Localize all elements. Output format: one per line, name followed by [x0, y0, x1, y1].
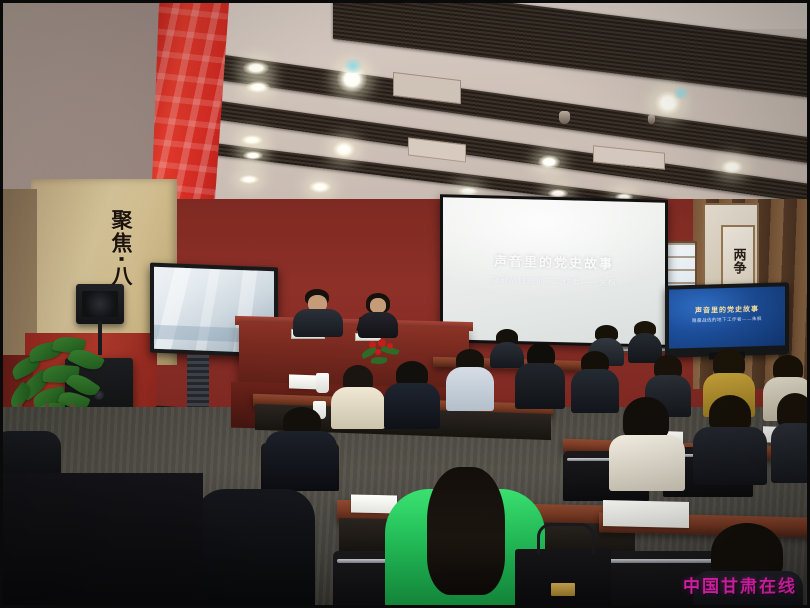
audience-member — [771, 393, 810, 483]
torso — [693, 427, 767, 485]
handbag — [515, 549, 611, 608]
side-monitor-screen: 声音里的党史故事 隐蔽战线的地下工作者——朱枫 — [669, 286, 785, 348]
torso — [384, 383, 440, 429]
torso — [515, 363, 565, 409]
loudspeaker — [76, 284, 124, 324]
audience-member — [386, 361, 438, 427]
hair — [427, 467, 505, 595]
document-paper — [603, 500, 689, 528]
audience-member — [195, 489, 315, 608]
audience-member — [335, 365, 381, 425]
ceiling-sensor-icon — [648, 115, 655, 124]
paper-cup — [316, 373, 329, 393]
ceiling-downlight — [243, 61, 269, 75]
ceiling-downlight — [246, 81, 270, 93]
ceiling-downlight — [309, 181, 331, 193]
monitor-slide-subtitle: 隐蔽战线的地下工作者——朱枫 — [669, 315, 785, 324]
torso — [195, 489, 315, 608]
side-monitor: 声音里的党史故事 隐蔽战线的地下工作者——朱枫 — [665, 282, 789, 357]
ceiling-downlight — [333, 141, 355, 158]
presenter-body — [358, 312, 398, 338]
foreground-dark-equipment — [3, 473, 203, 608]
watermark: 中国甘肃在线 — [683, 572, 797, 597]
presenter-female — [355, 293, 401, 335]
ceiling-downlight — [243, 151, 263, 160]
torso — [771, 423, 810, 483]
audience-member — [609, 397, 685, 487]
ceiling-downlight — [239, 175, 259, 184]
audience-member — [515, 343, 565, 409]
ceiling-downlight — [671, 87, 691, 99]
security-camera-icon — [559, 111, 570, 124]
monitor-slide-title: 声音里的党史故事 — [669, 303, 785, 316]
torso — [265, 431, 337, 489]
ceiling-downlight — [241, 135, 263, 145]
torso — [446, 367, 494, 411]
audience-member — [265, 407, 337, 487]
ceiling-downlight — [538, 155, 560, 169]
audience-member — [446, 349, 494, 411]
audience-member — [693, 395, 767, 483]
torso — [331, 387, 385, 429]
presenter-body — [293, 309, 343, 337]
handbag-handle — [537, 523, 595, 554]
wall-vertical-text: 聚焦·八 — [99, 209, 133, 288]
artwork-text: 两争 — [731, 248, 746, 274]
presenter-head — [370, 298, 386, 313]
ceiling-downlight — [721, 160, 743, 174]
photograph: 聚焦·八 两争 声音里的党史故事 隐蔽战线的地下工作者——朱枫 声音里的党史故事… — [0, 0, 810, 608]
torso — [609, 435, 685, 491]
handbag-clasp — [551, 583, 575, 596]
presenter-male — [291, 289, 345, 333]
ceiling-downlight — [341, 59, 365, 73]
